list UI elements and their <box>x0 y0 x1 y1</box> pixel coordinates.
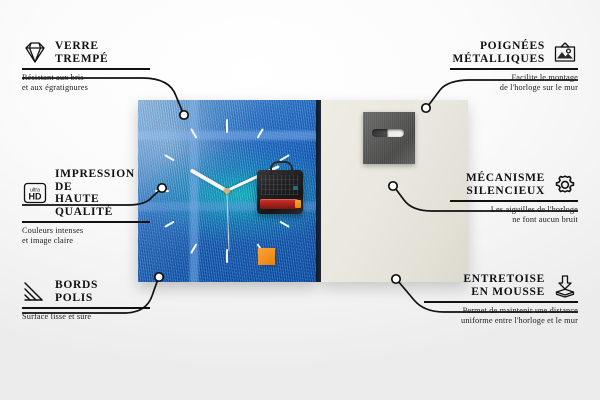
callout-desc-line1: Couleurs intenses <box>22 226 150 236</box>
gear-icon <box>552 173 578 197</box>
mechanism-label-dot <box>293 186 298 190</box>
callout-header: ultra HD IMPRESSION DE HAUTE QUALITÉ <box>22 168 150 218</box>
callout-title-line2: HAUTE QUALITÉ <box>55 193 150 218</box>
clock-center-hub <box>224 188 230 194</box>
callout-header: ENTRETOISE EN MOUSSE <box>424 273 578 298</box>
callout-rule <box>450 200 578 202</box>
callout-title-line1: ENTRETOISE <box>424 273 545 286</box>
callout-header: BORDS POLIS <box>22 279 150 304</box>
callout-title-line2: SILENCIEUX <box>450 185 545 198</box>
infographic-canvas: VERRE TREMPÉ Résistant aux bris et aux é… <box>0 0 600 400</box>
callout-title-line1: POIGNÉES <box>450 40 545 53</box>
callout-title-line1: MÉCANISME <box>450 172 545 185</box>
callout-rule <box>450 68 578 70</box>
callout-header: POIGNÉES MÉTALLIQUES <box>450 40 578 65</box>
callout-impression-hd: ultra HD IMPRESSION DE HAUTE QUALITÉ Cou… <box>22 168 150 246</box>
callout-title-line2: EN MOUSSE <box>424 286 545 299</box>
callout-title-line2: POLIS <box>55 292 98 305</box>
callout-title-line1: VERRE <box>55 40 108 53</box>
clock-tick <box>164 190 227 228</box>
callout-poignees-metalliques: POIGNÉES MÉTALLIQUES Facilite le montage… <box>450 40 578 93</box>
polished-edge-icon <box>22 280 48 304</box>
clock-tick <box>155 190 227 192</box>
callout-title-line2: TREMPÉ <box>55 53 108 66</box>
picture-frame-hanger-icon <box>552 41 578 65</box>
callout-desc-line2: ne font aucun bruit <box>450 215 578 225</box>
callout-title-line2: MÉTALLIQUES <box>450 53 545 66</box>
callout-rule <box>22 68 150 70</box>
callout-mecanisme-silencieux: MÉCANISME SILENCIEUX Les aiguilles de l'… <box>450 172 578 225</box>
callout-desc-line1: Permet de maintenir une distance <box>424 306 578 316</box>
callout-header: VERRE TREMPÉ <box>22 40 150 65</box>
battery <box>260 199 298 209</box>
callout-title-line1: IMPRESSION DE <box>55 168 150 193</box>
callout-entretoise-mousse: ENTRETOISE EN MOUSSE Permet de maintenir… <box>424 273 578 326</box>
callout-header: MÉCANISME SILENCIEUX <box>450 172 578 197</box>
mechanism-texture <box>261 175 299 195</box>
metal-hanger-plate <box>363 112 415 164</box>
callout-desc-line2: et aux égratignures <box>22 83 150 93</box>
callout-rule <box>22 307 150 309</box>
foam-spacer-arrow-icon <box>552 274 578 298</box>
callout-desc-line2: de l'horloge sur le mur <box>450 83 578 93</box>
callout-desc-line2: et image claire <box>22 236 150 246</box>
callout-desc-line1: Surface lisse et sûre <box>22 312 150 322</box>
clock-tick <box>226 119 228 191</box>
callout-rule <box>424 301 578 303</box>
callout-desc-line2: uniforme entre l'horloge et le mur <box>424 316 578 326</box>
ultra-hd-badge-icon: ultra HD <box>22 181 48 205</box>
callout-title-line1: BORDS <box>55 279 98 292</box>
diamond-icon <box>22 41 48 65</box>
callout-desc-line1: Facilite le montage <box>450 73 578 83</box>
clock-mechanism-box <box>257 170 303 214</box>
svg-text:HD: HD <box>29 192 42 202</box>
keyhole-slot <box>372 129 404 137</box>
callout-rule <box>22 221 150 223</box>
callout-desc-line1: Les aiguilles de l'horloge <box>450 205 578 215</box>
product-image <box>138 100 468 282</box>
callout-verre-trempe: VERRE TREMPÉ Résistant aux bris et aux é… <box>22 40 150 93</box>
callout-desc-line1: Résistant aux bris <box>22 73 150 83</box>
mechanism-hanging-loop <box>270 161 293 175</box>
foam-spacer <box>258 248 275 265</box>
callout-bords-polis: BORDS POLIS Surface lisse et sûre <box>22 279 150 322</box>
